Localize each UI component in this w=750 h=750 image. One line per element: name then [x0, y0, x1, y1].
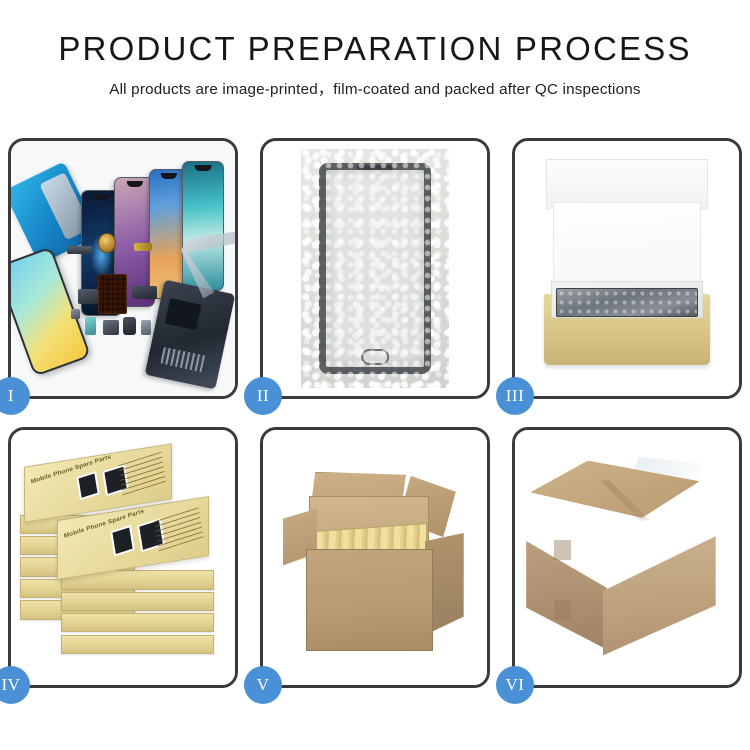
process-step-grid: I II III [8, 138, 742, 688]
product-preparation-infographic: PRODUCT PREPARATION PROCESS All products… [0, 0, 750, 750]
sealed-carton [526, 461, 728, 660]
box-label-text: Mobile Phone Spare Parts [30, 453, 111, 485]
bubble-texture-icon [301, 149, 449, 389]
screw-set-icon [71, 309, 80, 319]
page-subtitle: All products are image-printed，film-coat… [0, 77, 750, 99]
carton-front-wall [306, 549, 433, 651]
step-4-image: Mobile Phone Spare Parts Mobile Phone Sp… [11, 430, 235, 685]
carton-right-face [603, 536, 716, 655]
phone-notch-icon [94, 194, 110, 200]
charging-port-icon [123, 317, 136, 335]
stacked-box [61, 613, 213, 632]
earpiece-speaker-icon [67, 246, 92, 255]
step-3-image [515, 141, 739, 396]
step-6-image [515, 430, 739, 685]
carton-tape-tab-lower [554, 600, 570, 620]
phone-notch-icon [161, 173, 177, 179]
phone-notch-icon [194, 165, 211, 171]
phone-notch-icon [126, 181, 142, 187]
open-carton [279, 456, 472, 660]
box-spec-lines [154, 505, 204, 551]
box-spec-lines [118, 451, 166, 495]
process-step-6: VI [512, 427, 742, 688]
step-badge-6: VI [496, 666, 534, 704]
camera-module-icon [78, 289, 98, 304]
step-2-image [263, 141, 487, 396]
step-5-image [263, 430, 487, 685]
page-title: PRODUCT PREPARATION PROCESS [0, 30, 750, 68]
process-step-4: Mobile Phone Spare Parts Mobile Phone Sp… [8, 427, 238, 688]
phone-teal [182, 161, 224, 291]
packed-screen-icon [556, 288, 699, 317]
stacked-box [61, 592, 213, 611]
flex-connector-icon [132, 286, 157, 299]
box-screen-image [76, 471, 100, 500]
carton-tape-tab-upper [554, 540, 570, 560]
connector-grid-icon [98, 274, 127, 315]
vibrator-motor-icon [103, 320, 119, 335]
step-badge-2: II [244, 377, 282, 415]
stacked-box [61, 635, 213, 654]
flex-cable-icon [134, 243, 152, 251]
process-step-3: III [512, 138, 742, 399]
sim-tray-icon [141, 320, 151, 335]
box-screen-image [110, 525, 135, 556]
battery-connector-icon [85, 317, 96, 335]
process-step-1: I [8, 138, 238, 399]
header: PRODUCT PREPARATION PROCESS All products… [0, 0, 750, 99]
step-badge-3: III [496, 377, 534, 415]
bubble-wrap-photo [301, 149, 449, 389]
box-stack: Mobile Phone Spare Parts Mobile Phone Sp… [20, 450, 226, 664]
process-step-2: II [260, 138, 490, 399]
process-step-5: V [260, 427, 490, 688]
step-1-image [11, 141, 235, 396]
step-badge-5: V [244, 666, 282, 704]
kraft-box-tray-icon [544, 294, 710, 365]
